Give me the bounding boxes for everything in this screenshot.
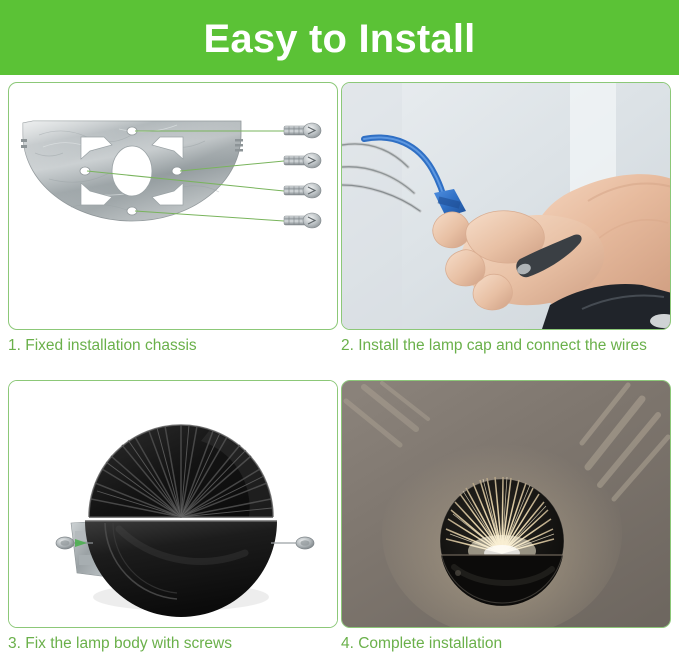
page-title: Easy to Install [204,19,476,59]
wiring-drawing [342,83,671,329]
step-1-image-frame [8,82,338,330]
installed-lamp-drawing [342,381,671,627]
step-3-image-frame [8,380,338,628]
step-card-1: 1. Fixed installation chassis [8,82,338,355]
infographic-root: Easy to Install [0,0,679,657]
wiring-photo [342,83,670,329]
header-banner: Easy to Install [0,0,679,75]
step-4-image-frame [341,380,671,628]
steps-grid: 1. Fixed installation chassis [0,75,679,657]
screw-3 [284,183,321,198]
step-4-caption: 4. Complete installation [341,634,663,653]
chassis-drawing [9,83,338,329]
step-1-caption: 1. Fixed installation chassis [8,336,330,355]
step-card-2: 2. Install the lamp cap and connect the … [341,82,671,355]
chassis-plate [21,121,243,221]
installed-lamp-photo [342,381,670,627]
screw-2 [284,153,321,168]
step-card-3: 3. Fix the lamp body with screws [8,380,338,653]
lamp-body-photo [9,381,337,627]
screw-1 [284,123,321,138]
step-2-image-frame [341,82,671,330]
step-3-caption: 3. Fix the lamp body with screws [8,634,330,653]
lamp-body-drawing [9,381,338,627]
step-2-caption: 2. Install the lamp cap and connect the … [341,336,663,355]
chassis-illustration [9,83,337,329]
step-card-4: 4. Complete installation [341,380,671,653]
screw-4 [284,213,321,228]
